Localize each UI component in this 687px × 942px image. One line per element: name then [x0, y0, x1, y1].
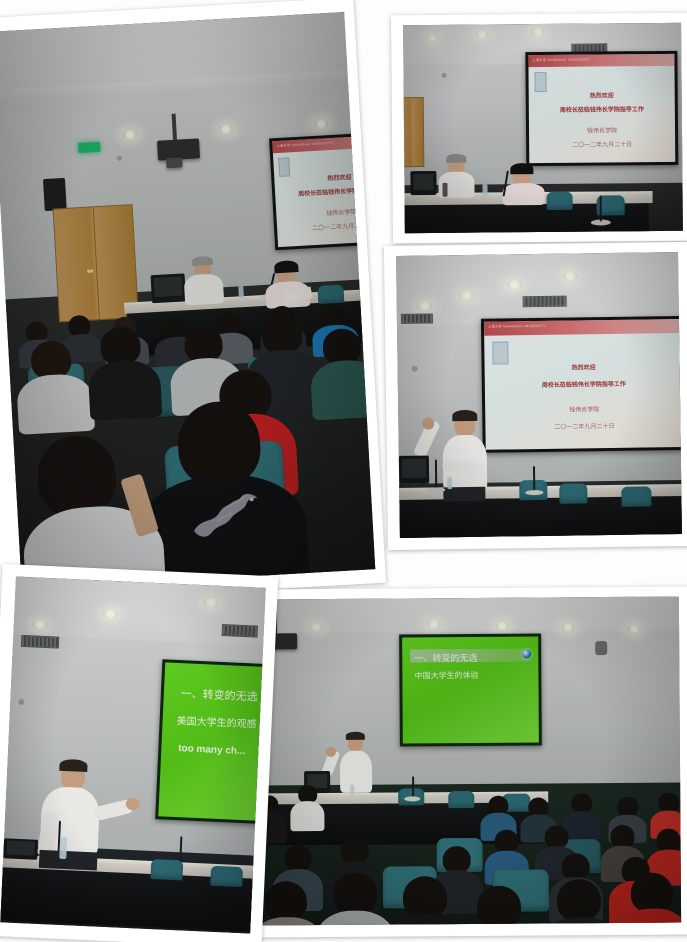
slide-line-1: 热烈欢迎 [529, 89, 675, 99]
slide-line-1: 热烈欢迎 [485, 361, 682, 373]
exit-sign-icon [78, 142, 101, 153]
photo-collage: 上海大学 SHANGHAI UNIVERSITY 热烈欢迎 周校长莅临钱伟长学院… [0, 0, 687, 942]
welcome-slide: 上海大学 SHANGHAI UNIVERSITY 热烈欢迎 周校长莅临钱伟长学院… [528, 54, 675, 163]
audience-member [308, 327, 375, 419]
slide-line-2: 周校长莅临钱伟长学院指导工作 [529, 104, 675, 114]
water-bottle [59, 837, 67, 859]
green-slide: 一、转变的无选 中国大学生的体验 [402, 636, 539, 743]
projection-screen: 上海大学 SHANGHAI UNIVERSITY 热烈欢迎 周校长莅临钱伟长学院… [269, 131, 375, 250]
slide-line-3: 钱伟长学院 [276, 204, 375, 220]
green-slide-english-line: too many ch... [178, 743, 246, 757]
slide-line-4: 二〇一二年九月二十日 [529, 139, 675, 149]
audience-member-foreground [385, 876, 466, 925]
projection-screen: 一、转变的无选 美国大学生的观感 too many ch... [155, 659, 266, 825]
photo-speaker-green-slide: 一、转变的无选 美国大学生的观感 too many ch... [0, 564, 278, 942]
speaker-torso [340, 751, 372, 793]
university-logo [492, 342, 508, 365]
green-slide-heading: 一、转变的无选 [180, 685, 258, 704]
photo-audience-panel: 上海大学 SHANGHAI UNIVERSITY 热烈欢迎 周校长莅临钱伟长学院… [0, 0, 386, 604]
university-logo [278, 157, 290, 177]
slide-banner-text: 上海大学 SHANGHAI UNIVERSITY [528, 54, 674, 62]
audience-member-foreground [459, 885, 542, 925]
slide-line-3: 钱伟长学院 [485, 403, 682, 415]
desk-monitor-icon [410, 171, 436, 195]
desk-monitor-icon [151, 273, 187, 303]
university-logo [534, 72, 546, 91]
audience-member-foreground [539, 879, 622, 926]
photo-hall-wide: 一、转变的无选 中国大学生的体验 [239, 586, 687, 937]
audience-member-foreground [615, 872, 681, 925]
green-slide-subheading: 中国大学生的体验 [415, 670, 479, 681]
slide-banner-text: 上海大学 SHANGHAI UNIVERSITY [484, 319, 682, 328]
audience-member [14, 339, 95, 433]
slide-line-4: 二〇一二年九月二十日 [277, 218, 375, 234]
wall-speaker-icon [43, 178, 67, 211]
slide-line-2: 周校长莅临钱伟长学院指导工作 [275, 183, 375, 199]
green-slide-subheading: 美国大学生的观感 [176, 712, 257, 731]
photo-panel-table: 上海大学 SHANGHAI UNIVERSITY 热烈欢迎 周校长莅临钱伟长学院… [391, 13, 687, 244]
desk-monitor-icon [399, 456, 429, 484]
projection-screen: 一、转变的无选 中国大学生的体验 [399, 633, 542, 746]
projection-screen: 上海大学 SHANGHAI UNIVERSITY 热烈欢迎 周校长莅临钱伟长学院… [525, 51, 678, 166]
audience-member-foreground [315, 873, 396, 926]
slide-line-2: 周校长莅临钱伟长学院指导工作 [485, 378, 682, 390]
welcome-slide: 上海大学 SHANGHAI UNIVERSITY 热烈欢迎 周校长莅临钱伟长学院… [484, 319, 682, 450]
slide-line-3: 钱伟长学院 [529, 125, 675, 135]
welcome-slide: 上海大学 SHANGHAI UNIVERSITY 热烈欢迎 周校长莅临钱伟长学院… [272, 134, 375, 247]
photo-speaker-gesturing: 上海大学 SHANGHAI UNIVERSITY 热烈欢迎 周校长莅临钱伟长学院… [384, 242, 687, 550]
green-slide: 一、转变的无选 美国大学生的观感 too many ch... [158, 662, 265, 822]
slide-line-4: 二〇一二年九月二十日 [485, 420, 682, 432]
projection-screen: 上海大学 SHANGHAI UNIVERSITY 热烈欢迎 周校长莅临钱伟长学院… [481, 316, 682, 453]
green-slide-heading: 一、转变的无选 [414, 651, 477, 664]
